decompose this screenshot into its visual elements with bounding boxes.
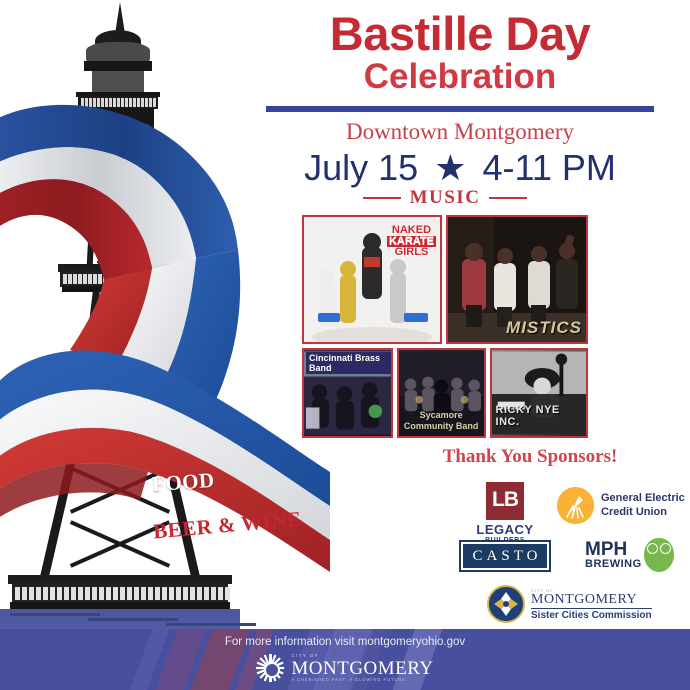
- star-icon: ★: [434, 150, 466, 186]
- city-of-montgomery-logo: CITY OF MONTGOMERY A CHERISHED PAST. A G…: [0, 654, 690, 682]
- bastille-day-poster: FOOD BEER & WINE Bastille Day Celebratio…: [0, 0, 690, 690]
- header-divider-rule: [266, 106, 654, 112]
- tower-base-platform-bottom: [10, 602, 230, 609]
- sponsor-logo-sister-cities-commission[interactable]: CITY OF MONTGOMERY Sister Cities Commiss…: [487, 585, 652, 623]
- band-photo-ricky-nye-inc[interactable]: RICKY NYE INC.: [490, 348, 588, 438]
- label-food: FOOD: [151, 468, 215, 497]
- sister-cities-name: CITY OF MONTGOMERY Sister Cities Commiss…: [531, 588, 652, 621]
- music-photo-grid: NAKED KARATE GIRLS: [302, 215, 588, 438]
- tower-xbrace: [94, 234, 142, 264]
- band-photo-cincinnati-brass-band[interactable]: Cincinnati Brass Band: [302, 348, 393, 438]
- sponsor-logo-general-electric-credit-union[interactable]: General Electric Credit Union: [557, 487, 685, 524]
- tower-xbrace: [94, 144, 142, 174]
- band-caption: Sycamore Community Band: [399, 410, 484, 432]
- footer-info-text: For more information visit montgomeryohi…: [0, 636, 690, 648]
- legacy-mark: LB: [486, 482, 524, 520]
- poster-footer: For more information visit montgomeryohi…: [0, 629, 690, 690]
- mph-name: MPH BREWING: [585, 540, 642, 570]
- band-photo-naked-karate-girls[interactable]: NAKED KARATE GIRLS: [302, 215, 442, 344]
- music-photo-row-bottom: Cincinnati Brass Band: [302, 348, 588, 438]
- tower-base-balusters: [12, 583, 228, 603]
- sponsor-logo-mph-brewing[interactable]: MPH BREWING: [585, 538, 674, 572]
- event-time: 4-11 PM: [482, 147, 615, 189]
- sponsor-logo-casto[interactable]: CASTO: [459, 540, 551, 572]
- tower-mid-balusters: [60, 271, 178, 287]
- band-photo-mistics[interactable]: MISTICS: [446, 215, 588, 344]
- music-rule-left: [363, 197, 401, 199]
- legacy-mark-text: LB: [486, 488, 524, 512]
- music-heading: MUSIC: [300, 187, 590, 209]
- tower-xbrace: [94, 204, 142, 234]
- band-caption: NAKED KARATE GIRLS: [387, 225, 436, 259]
- glasses-icon: [647, 543, 671, 552]
- tower-xbrace: [90, 364, 150, 400]
- band-caption: MISTICS: [506, 318, 582, 338]
- casto-name: CASTO: [469, 548, 542, 565]
- event-location: Downtown Montgomery: [230, 119, 690, 145]
- event-datetime: July 15 ★ 4-11 PM: [230, 147, 690, 189]
- gecu-name: General Electric Credit Union: [601, 492, 685, 520]
- tower-xbrace: [94, 174, 142, 204]
- music-rule-right: [489, 197, 527, 199]
- legacy-name-1: LEGACY: [470, 522, 540, 537]
- music-photo-row-top: NAKED KARATE GIRLS: [302, 215, 588, 344]
- tower-ground-band: [0, 609, 240, 631]
- poster-subtitle: Celebration: [230, 59, 690, 96]
- tower-xbrace: [90, 330, 150, 366]
- city-name-block: CITY OF MONTGOMERY A CHERISHED PAST. A G…: [291, 654, 433, 682]
- music-heading-label: MUSIC: [410, 187, 481, 209]
- gecu-mark-icon: [557, 487, 594, 524]
- sunburst-icon: [256, 654, 284, 682]
- band-caption: Cincinnati Brass Band: [306, 352, 391, 374]
- poster-title: Bastille Day: [230, 10, 690, 58]
- sister-cities-seal-icon: [487, 585, 525, 623]
- poster-header: Bastille Day Celebration Downtown Montgo…: [230, 0, 690, 189]
- city-tagline: A CHERISHED PAST. A GLOWING FUTURE.: [291, 678, 433, 682]
- band-caption: RICKY NYE INC.: [496, 404, 586, 428]
- tower-mid-shaft: [80, 292, 160, 402]
- city-name: MONTGOMERY: [291, 659, 433, 678]
- tower-xbrace: [90, 294, 150, 330]
- sponsors-heading: Thank You Sponsors!: [405, 446, 655, 468]
- tower-xbrace: [66, 408, 174, 460]
- montgomery-tower-illustration: [0, 0, 260, 650]
- band-photo-sycamore-community-band[interactable]: Sycamore Community Band: [397, 348, 486, 438]
- tower-band: [84, 61, 152, 71]
- tower-upper-shaft: [90, 140, 146, 266]
- event-date: July 15: [304, 147, 418, 189]
- hop-cone-icon: [644, 538, 674, 572]
